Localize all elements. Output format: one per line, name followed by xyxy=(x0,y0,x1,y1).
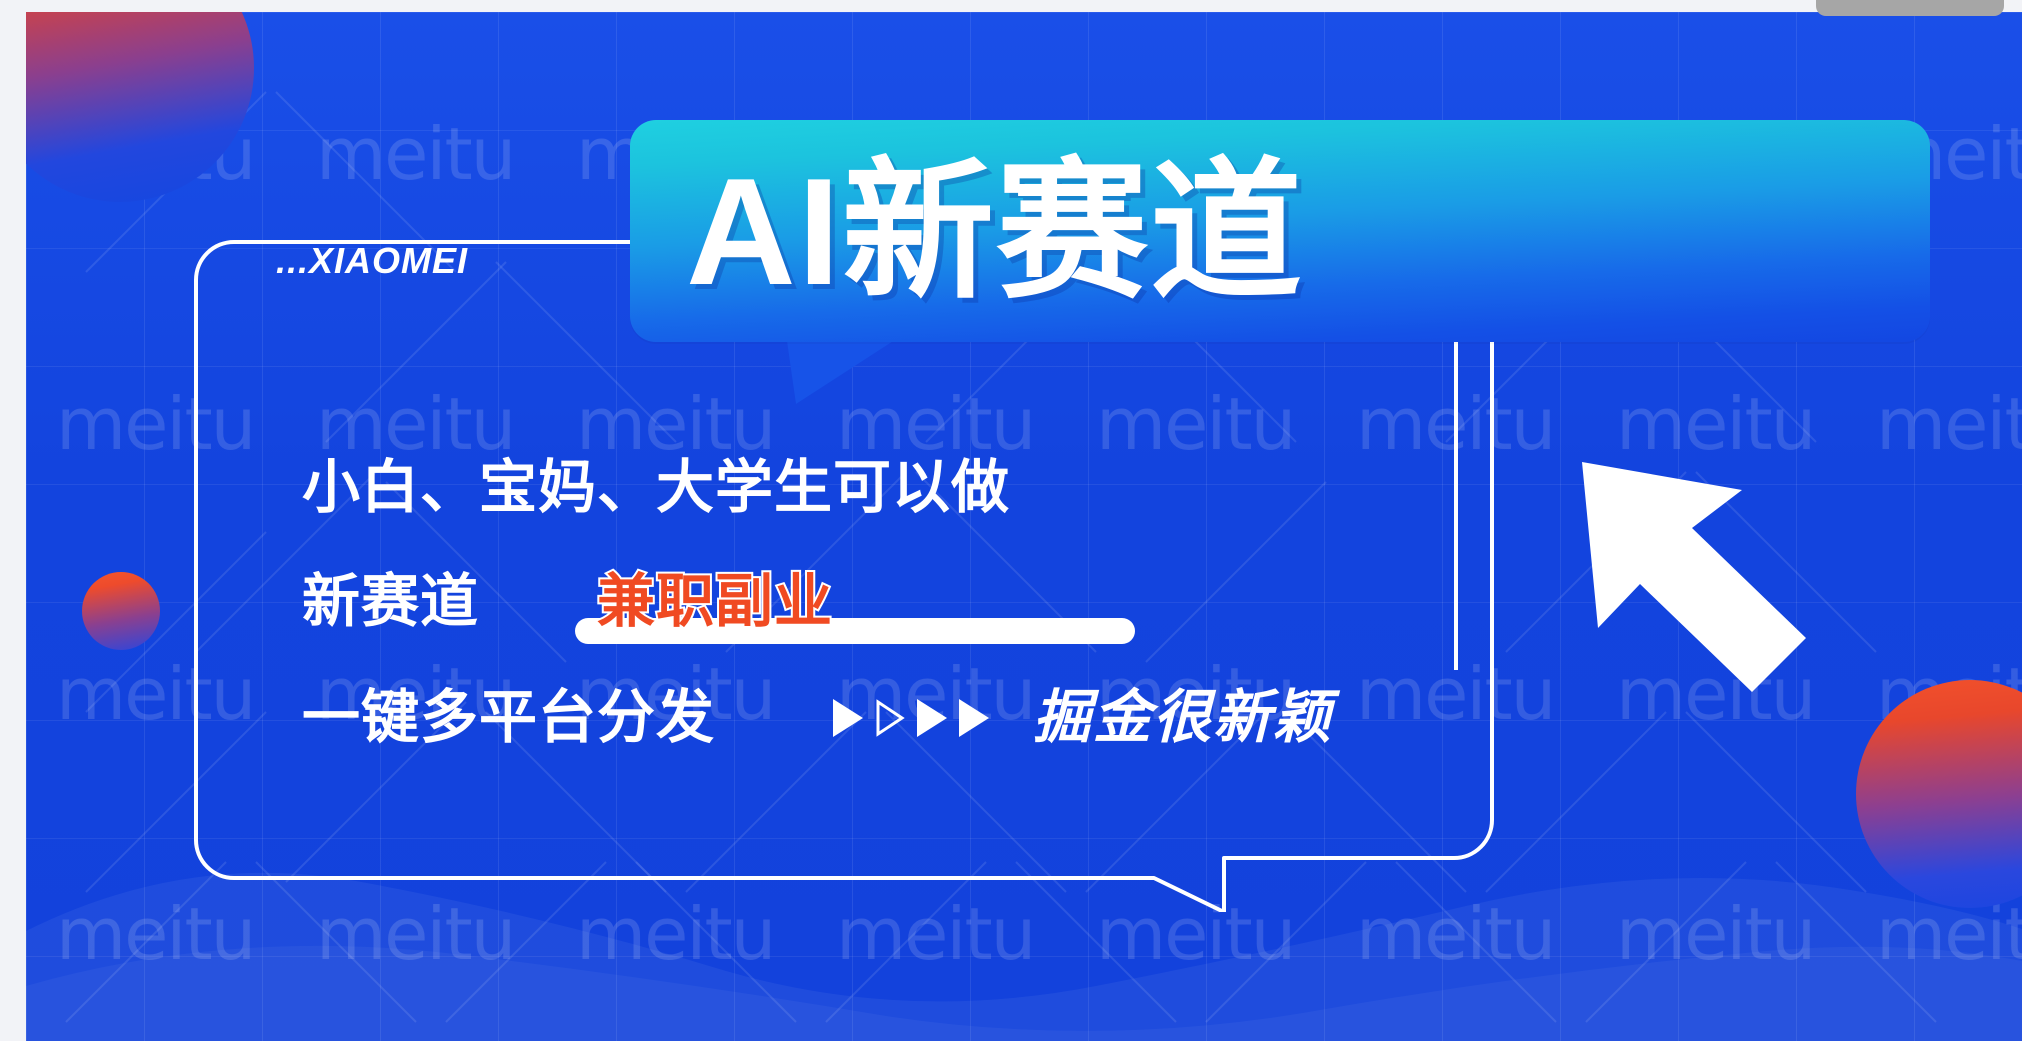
bottom-wave-decoration xyxy=(26,811,2022,1041)
play-triangle-icon xyxy=(917,699,947,737)
body-line-2: 新赛道 兼职副业 xyxy=(302,566,1702,638)
highlight-phrase: 兼职副业 xyxy=(597,566,833,638)
watermark-text: meitu xyxy=(56,382,254,466)
watermark-text: meitu xyxy=(576,892,774,976)
watermark-text: meitu xyxy=(316,892,514,976)
watermark-text: meitu xyxy=(56,892,254,976)
page-headline: AI新赛道 xyxy=(686,130,1866,334)
watermark-text: meitu xyxy=(1356,892,1554,976)
banner-speech-tail xyxy=(786,334,906,406)
body-line-3-right-text: 掘金很新颖 xyxy=(1033,682,1333,754)
gradient-circle-left xyxy=(82,572,160,650)
watermark-text: meitu xyxy=(1876,382,2022,466)
arrow-group xyxy=(833,699,989,737)
body-line-2-left-text: 新赛道 xyxy=(302,566,479,638)
watermark-text: meitu xyxy=(1096,892,1294,976)
author-tag: ...XIAOMEI xyxy=(276,240,468,282)
cursor-arrow-icon xyxy=(1574,442,1824,712)
body-line-3-left-text: 一键多平台分发 xyxy=(302,682,715,754)
window-chrome-pill xyxy=(1816,0,2004,16)
poster-canvas: meitu meitu meitu meitu meitu meitu meit… xyxy=(0,0,2022,1041)
body-line-3: 一键多平台分发 掘金很新颖 xyxy=(302,682,1702,754)
gradient-circle-top-left xyxy=(26,12,254,202)
body-copy: 小白、宝妈、大学生可以做 新赛道 兼职副业 一键多平台分发 xyxy=(302,452,1702,754)
play-triangle-icon xyxy=(833,699,863,737)
play-triangle-icon xyxy=(959,699,989,737)
highlight-phrase-text: 兼职副业 xyxy=(597,566,833,638)
watermark-text: meitu xyxy=(56,652,254,736)
blue-background: meitu meitu meitu meitu meitu meitu meit… xyxy=(26,12,2022,1041)
watermark-text: meitu xyxy=(1616,892,1814,976)
body-line-1-text: 小白、宝妈、大学生可以做 xyxy=(302,452,1010,524)
left-margin-strip xyxy=(0,0,26,1041)
play-triangle-outline-icon xyxy=(875,699,905,737)
body-line-1: 小白、宝妈、大学生可以做 xyxy=(302,452,1702,524)
author-tag-label: ...XIAOMEI xyxy=(276,240,468,282)
watermark-text: meitu xyxy=(316,112,514,196)
gradient-circle-bottom-right xyxy=(1856,680,2022,908)
watermark-text: meitu xyxy=(836,892,1034,976)
